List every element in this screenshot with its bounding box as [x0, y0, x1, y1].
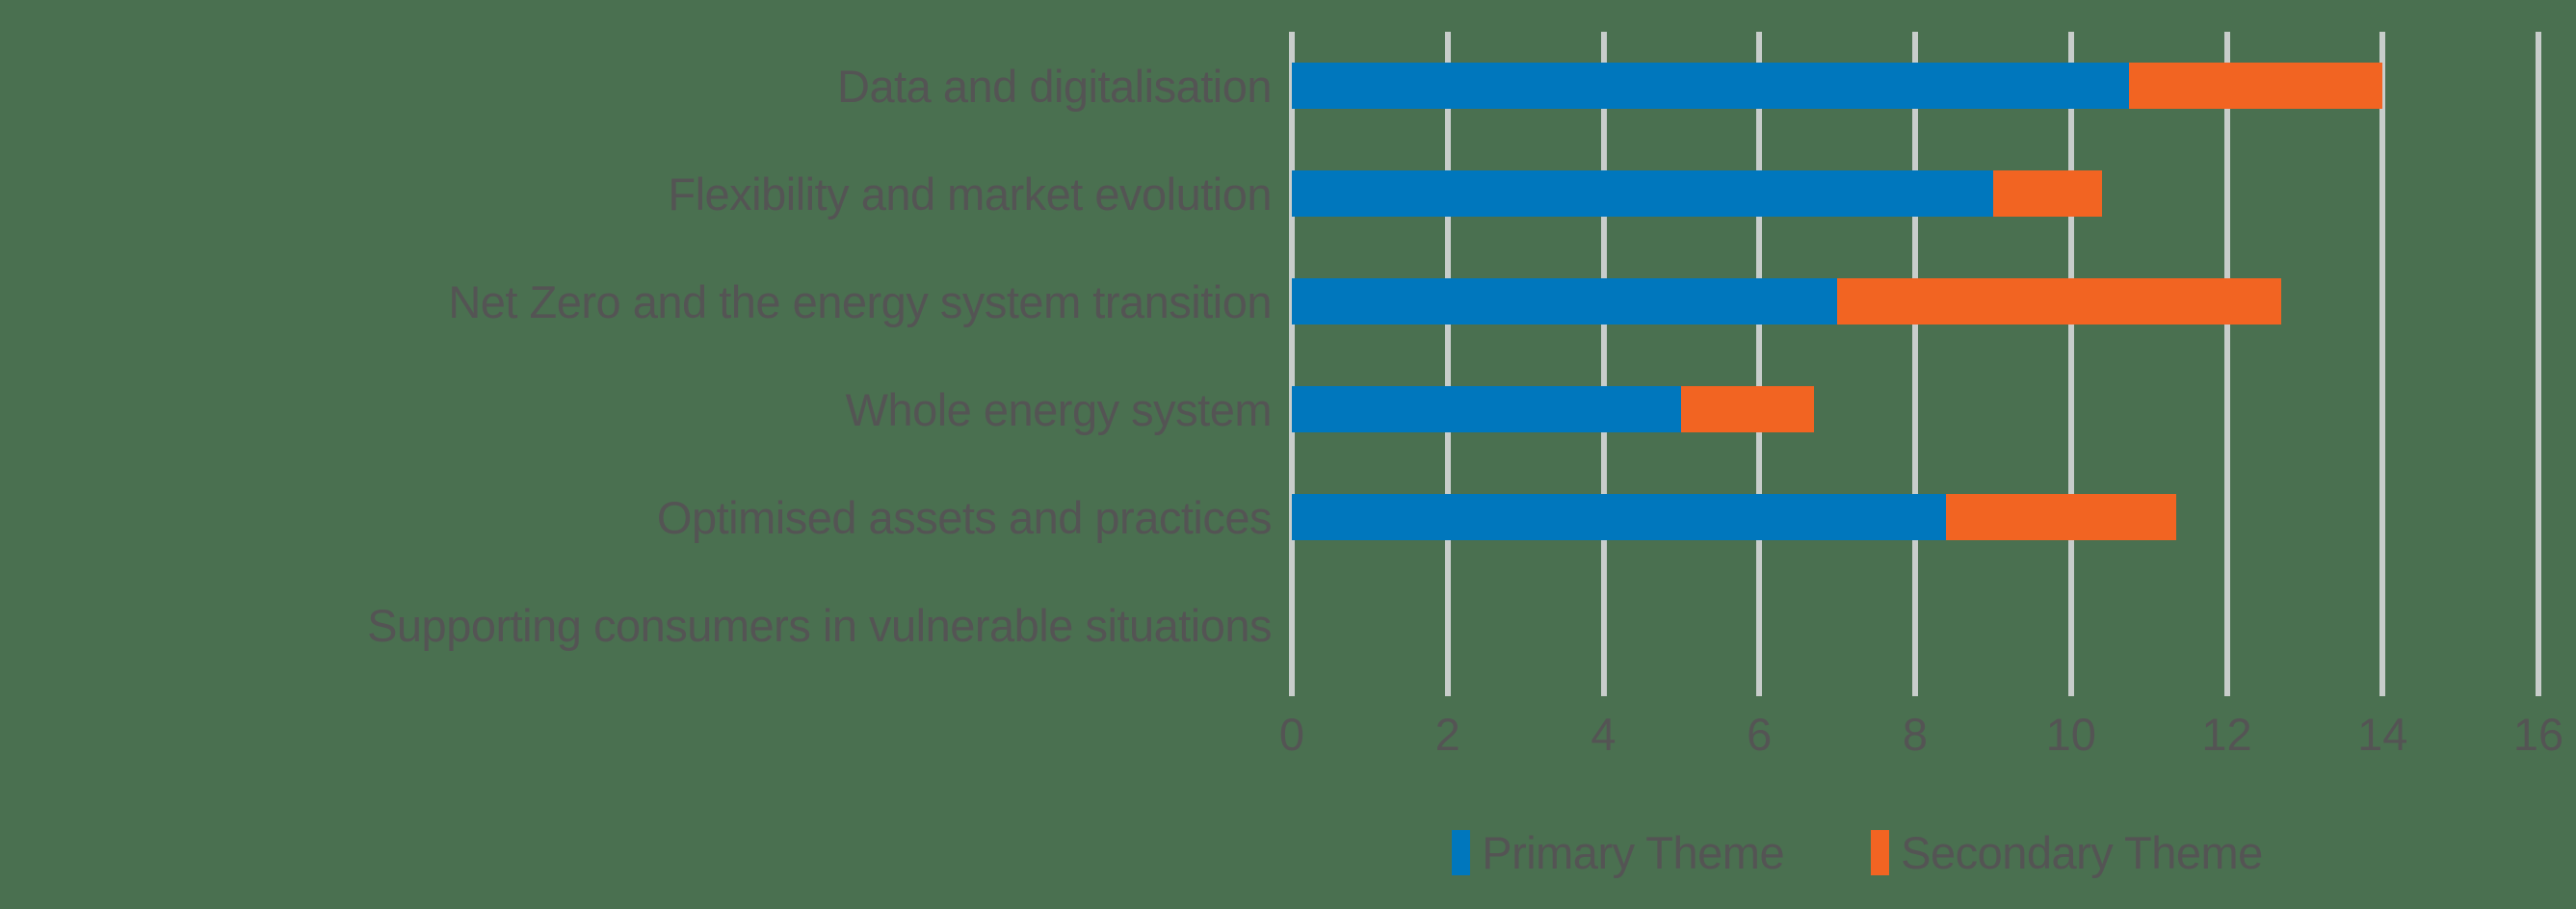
x-tick-label: 6: [1747, 708, 1772, 761]
bar-segment-primary[interactable]: [1292, 494, 1946, 540]
bar-segment-secondary[interactable]: [2129, 63, 2382, 109]
category-row: Flexibility and market evolution: [0, 140, 1272, 247]
bar-segment-secondary[interactable]: [1993, 170, 2102, 217]
stacked-bar-chart: Data and digitalisation Flexibility and …: [0, 0, 2576, 909]
x-tick-label: 10: [2046, 708, 2096, 761]
x-tick-label: 4: [1590, 708, 1616, 761]
category-label: Flexibility and market evolution: [668, 168, 1272, 221]
category-label: Net Zero and the energy system transitio…: [448, 275, 1272, 328]
bar-segment-primary[interactable]: [1292, 63, 2129, 109]
category-row: Net Zero and the energy system transitio…: [0, 247, 1272, 355]
bar-segment-secondary[interactable]: [1681, 386, 1813, 432]
secondary-theme-swatch-icon: [1871, 830, 1889, 875]
x-tick-label: 0: [1279, 708, 1304, 761]
category-label: Supporting consumers in vulnerable situa…: [367, 599, 1272, 652]
primary-theme-swatch-icon: [1452, 830, 1470, 875]
legend-label: Secondary Theme: [1901, 826, 2263, 879]
legend-item-secondary-theme[interactable]: Secondary Theme: [1871, 826, 2263, 879]
category-row: Whole energy system: [0, 355, 1272, 463]
plot-area: [1289, 32, 2541, 696]
bar-segment-primary[interactable]: [1292, 386, 1681, 432]
legend-label: Primary Theme: [1482, 826, 1784, 879]
bar-segment-secondary[interactable]: [1837, 278, 2281, 325]
category-label: Data and digitalisation: [837, 60, 1272, 113]
x-tick-label: 14: [2357, 708, 2407, 761]
legend-item-primary-theme[interactable]: Primary Theme: [1452, 826, 1784, 879]
x-axis: 0 2 4 6 8 10 12 14 16: [1289, 708, 2561, 766]
bar-segment-primary[interactable]: [1292, 170, 1993, 217]
bar-segment-secondary[interactable]: [1946, 494, 2176, 540]
category-label: Optimised assets and practices: [657, 491, 1272, 544]
bar-segment-primary[interactable]: [1292, 278, 1837, 325]
category-row: Data and digitalisation: [0, 32, 1272, 140]
x-tick-label: 2: [1435, 708, 1460, 761]
category-row: Supporting consumers in vulnerable situa…: [0, 571, 1272, 679]
bars-layer: [1289, 32, 2541, 571]
x-tick-label: 16: [2513, 708, 2563, 761]
category-axis: Data and digitalisation Flexibility and …: [0, 32, 1281, 571]
x-tick-label: 12: [2201, 708, 2251, 761]
x-tick-label: 8: [1903, 708, 1928, 761]
legend: Primary Theme Secondary Theme: [1289, 823, 2426, 881]
category-row: Optimised assets and practices: [0, 463, 1272, 571]
category-label: Whole energy system: [846, 383, 1272, 436]
